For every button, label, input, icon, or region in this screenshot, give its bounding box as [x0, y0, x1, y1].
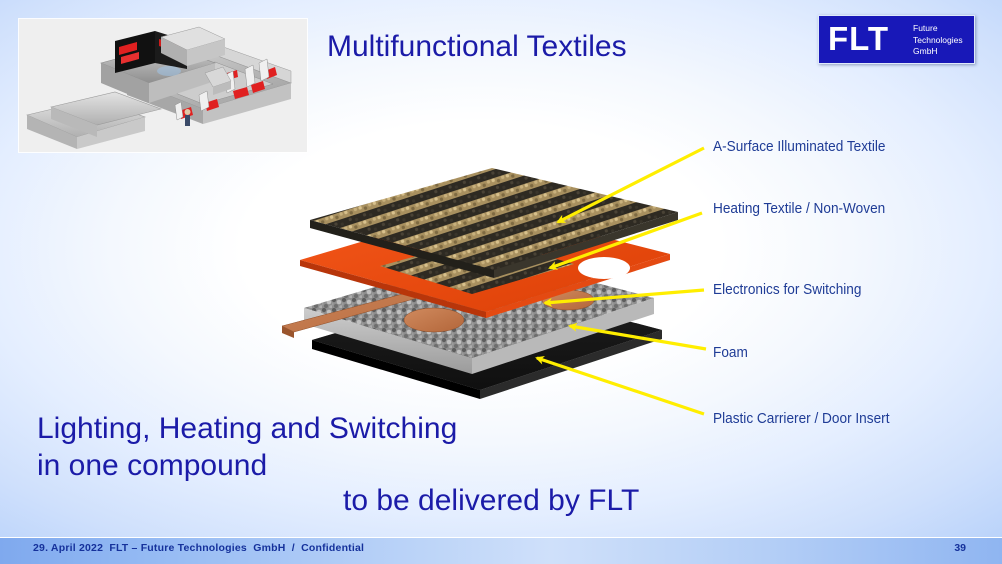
callout-foam: Foam [713, 345, 748, 361]
page-number: 39 [954, 542, 966, 554]
arrow-plastic-carrier [537, 358, 704, 414]
arrow-foam [570, 326, 706, 349]
arrow-electronics [545, 290, 704, 303]
callout-a-surface-illuminated-textile: A-Surface Illuminated Textile [713, 139, 885, 155]
callout-plastic-carrier-door-insert: Plastic Carrierer / Door Insert [713, 411, 889, 427]
callout-heating-textile-non-woven: Heating Textile / Non-Woven [713, 201, 885, 217]
footer-text: 29. April 2022 FLT – Future Technologies… [33, 542, 364, 554]
arrow-a-surface-textile [558, 148, 704, 222]
footer-bar: 29. April 2022 FLT – Future Technologies… [0, 537, 1002, 564]
arrow-heating-textile [550, 213, 702, 268]
callout-electronics-for-switching: Electronics for Switching [713, 282, 861, 298]
claim-statement-primary: Lighting, Heating and Switching in one c… [37, 410, 457, 484]
claim-statement-secondary: to be delivered by FLT [343, 484, 639, 518]
slide-canvas: Multifunctional Textiles FLT Future Tech… [0, 0, 1002, 564]
